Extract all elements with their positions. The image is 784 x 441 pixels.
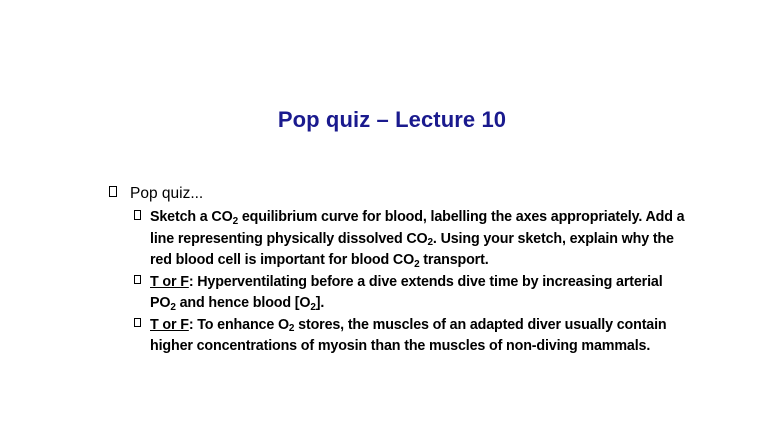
subscript: 2 [428,237,433,248]
true-false-prefix: T or F [150,317,189,333]
question-item-q2: T or F: Hyperventilating before a dive e… [108,272,688,315]
subscript: 2 [289,323,294,334]
question-text: T or F: To enhance O2 stores, the muscle… [150,317,667,355]
subscript: 2 [414,259,419,270]
page-title: Pop quiz – Lecture 10 [0,107,784,133]
subscript: 2 [170,302,175,313]
slide-body: Pop quiz... Sketch a CO2 equilibrium cur… [108,183,688,358]
slide-canvas: Pop quiz – Lecture 10 Pop quiz... Sketch… [0,0,784,441]
bullet-level1-pop-quiz: Pop quiz... [108,183,688,205]
subscript: 2 [233,216,238,227]
question-text: T or F: Hyperventilating before a dive e… [150,274,663,312]
hollow-square-bullet-icon [134,210,141,220]
bullet-level1-label: Pop quiz... [130,185,203,202]
question-text: Sketch a CO2 equilibrium curve for blood… [150,209,684,268]
hollow-square-bullet-icon [134,318,141,328]
hollow-square-bullet-icon [109,186,117,197]
true-false-prefix: T or F [150,274,189,290]
question-item-q3: T or F: To enhance O2 stores, the muscle… [108,315,688,358]
hollow-square-bullet-icon [134,275,141,285]
question-item-q1: Sketch a CO2 equilibrium curve for blood… [108,207,688,272]
subscript: 2 [310,302,315,313]
